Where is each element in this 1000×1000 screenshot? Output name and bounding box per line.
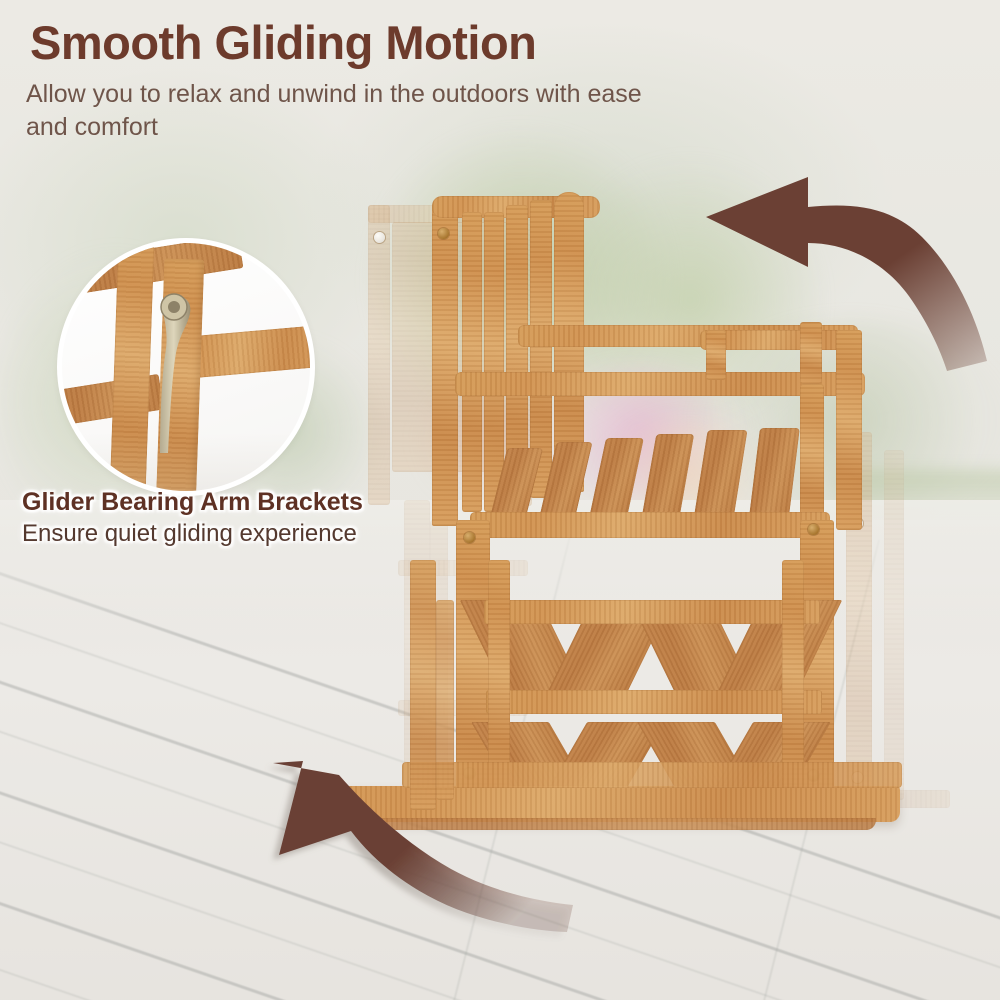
bench-seat-front-rail [470, 512, 830, 538]
bench-base-runner-rear [402, 762, 902, 788]
bench-rear-leg [436, 600, 454, 800]
bench-mid-rail [486, 690, 822, 714]
bench-peg [808, 524, 819, 535]
promo-image: Smooth Gliding Motion Allow you to relax… [0, 0, 1000, 1000]
page-title: Smooth Gliding Motion [30, 18, 536, 67]
bench-arm-support [706, 330, 726, 380]
page-subtitle: Allow you to relax and unwind in the out… [26, 78, 646, 144]
bench-mid-rail [484, 600, 820, 624]
bench-peg [464, 532, 475, 543]
bench-back-slat [484, 212, 504, 512]
bench-arm-post [836, 330, 862, 530]
bench-peg [438, 228, 449, 239]
bench-rear-leg [410, 560, 436, 810]
callout-title: Glider Bearing Arm Brackets [22, 487, 442, 517]
callout-caption: Glider Bearing Arm Brackets Ensure quiet… [22, 487, 442, 549]
bench-back-post [432, 196, 458, 526]
bench-base-runner [300, 786, 900, 822]
bracket-closeup-inset [62, 243, 310, 491]
bench-back-slat [462, 212, 482, 512]
callout-subtitle: Ensure quiet gliding experience [22, 519, 442, 549]
bench-base-runner-shadow [316, 818, 876, 830]
bench-arm-support [800, 322, 822, 384]
